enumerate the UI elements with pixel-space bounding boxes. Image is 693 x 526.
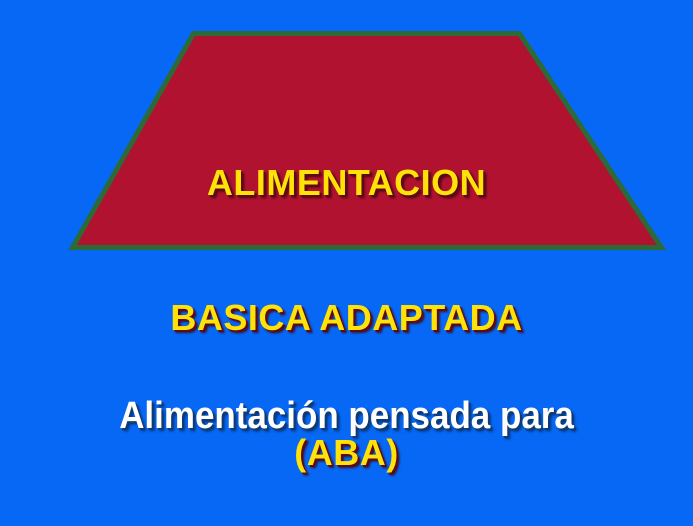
- trapezoid-banner: ALIMENTACION BASICA ADAPTADA (ABA): [0, 0, 693, 255]
- subtitle-line-1: Alimentación pensada para: [28, 392, 666, 440]
- subtitle-paragraph: Alimentación pensada para nutrir, conser…: [28, 296, 666, 526]
- presentation-slide: ALIMENTACION BASICA ADAPTADA (ABA) Alime…: [0, 0, 693, 526]
- banner-title-line-1: ALIMENTACION: [0, 160, 693, 205]
